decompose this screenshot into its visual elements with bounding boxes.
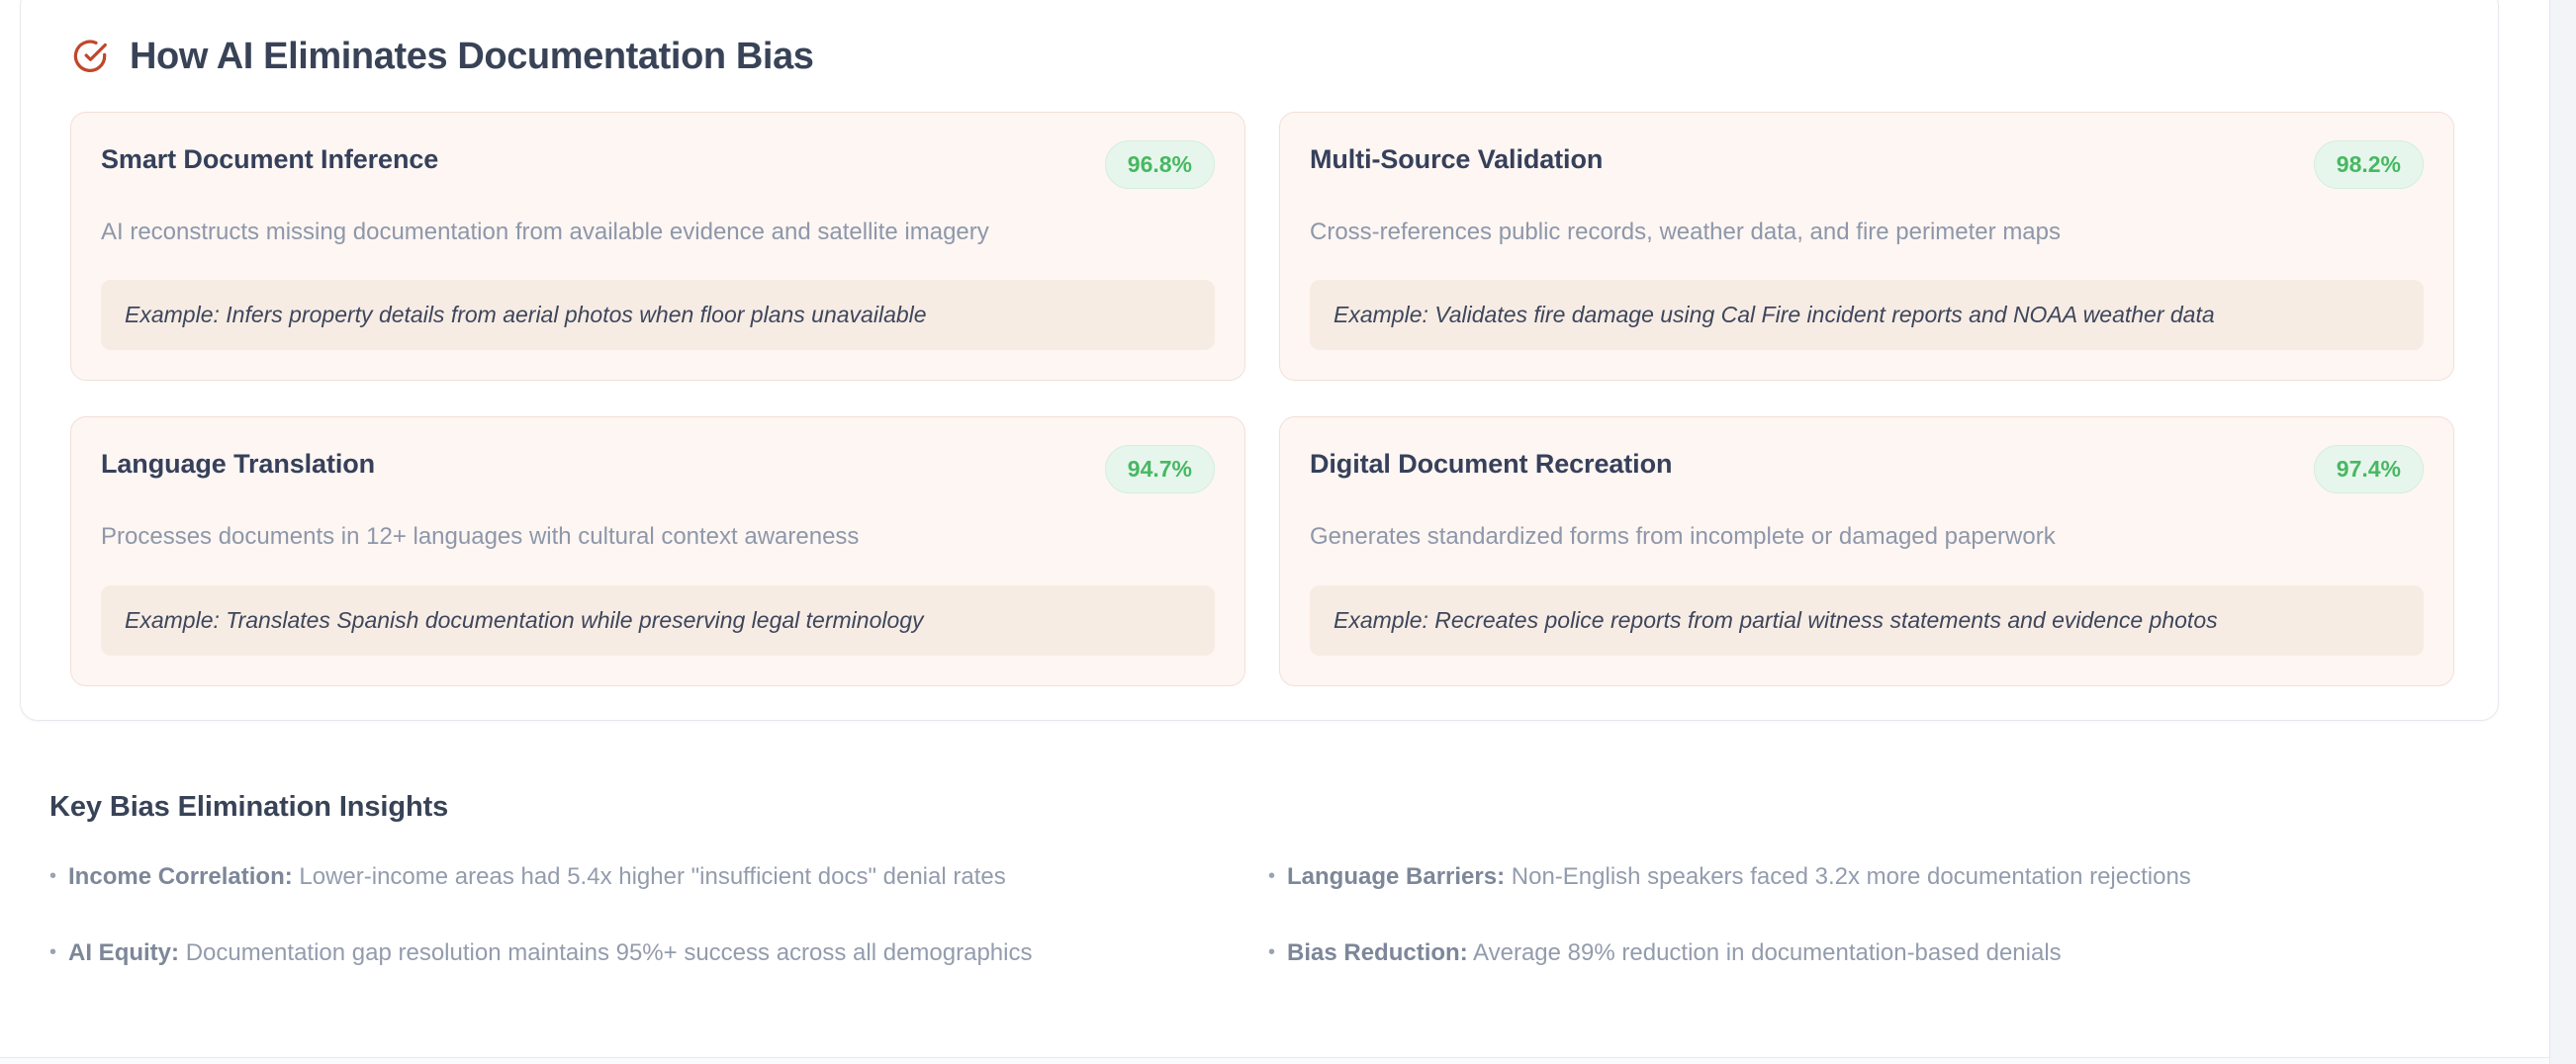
feature-card-smart-document-inference[interactable]: Smart Document Inference 96.8% AI recons… <box>70 112 1245 381</box>
documentation-bias-panel: How AI Eliminates Documentation Bias Sma… <box>20 0 2499 721</box>
insights-grid: • Income Correlation: Lower-income areas… <box>49 861 2483 968</box>
insight-label: Income Correlation: <box>68 863 293 890</box>
card-description: AI reconstructs missing documentation fr… <box>101 217 1215 248</box>
card-header: Digital Document Recreation 97.4% <box>1310 445 2424 493</box>
card-example: Example: Validates fire damage using Cal… <box>1310 280 2424 350</box>
bottom-strip <box>0 1058 2549 1064</box>
check-circle-icon <box>72 39 109 75</box>
card-description: Generates standardized forms from incomp… <box>1310 521 2424 553</box>
insight-text: Language Barriers: Non-English speakers … <box>1287 861 2191 892</box>
insight-item-income-correlation: • Income Correlation: Lower-income areas… <box>49 861 1268 892</box>
key-insights-section: Key Bias Elimination Insights • Income C… <box>49 791 2483 968</box>
insights-title: Key Bias Elimination Insights <box>49 791 2483 824</box>
insight-label: AI Equity: <box>68 939 179 966</box>
card-description: Cross-references public records, weather… <box>1310 217 2424 248</box>
accuracy-badge: 98.2% <box>2314 140 2424 189</box>
insight-body: Lower-income areas had 5.4x higher "insu… <box>299 863 1005 890</box>
page-root: How AI Eliminates Documentation Bias Sma… <box>0 0 2576 1064</box>
accuracy-badge: 94.7% <box>1105 445 1215 493</box>
feature-card-language-translation[interactable]: Language Translation 94.7% Processes doc… <box>70 416 1245 685</box>
insight-text: AI Equity: Documentation gap resolution … <box>68 937 1032 968</box>
feature-card-multi-source-validation[interactable]: Multi-Source Validation 98.2% Cross-refe… <box>1279 112 2454 381</box>
card-header: Smart Document Inference 96.8% <box>101 140 1215 189</box>
card-title: Smart Document Inference <box>101 140 438 177</box>
insight-item-bias-reduction: • Bias Reduction: Average 89% reduction … <box>1268 937 2483 968</box>
bullet-icon: • <box>49 942 56 962</box>
accuracy-badge: 96.8% <box>1105 140 1215 189</box>
insight-text: Income Correlation: Lower-income areas h… <box>68 861 1006 892</box>
insight-item-language-barriers: • Language Barriers: Non-English speaker… <box>1268 861 2483 892</box>
insight-item-ai-equity: • AI Equity: Documentation gap resolutio… <box>49 937 1268 968</box>
bullet-icon: • <box>1268 866 1275 886</box>
panel-header: How AI Eliminates Documentation Bias <box>21 0 2498 78</box>
feature-card-grid: Smart Document Inference 96.8% AI recons… <box>21 78 2498 686</box>
card-example: Example: Translates Spanish documentatio… <box>101 585 1215 656</box>
card-header: Multi-Source Validation 98.2% <box>1310 140 2424 189</box>
feature-card-digital-document-recreation[interactable]: Digital Document Recreation 97.4% Genera… <box>1279 416 2454 685</box>
card-title: Multi-Source Validation <box>1310 140 1603 177</box>
card-example: Example: Infers property details from ae… <box>101 280 1215 350</box>
insight-label: Bias Reduction: <box>1287 939 1468 966</box>
page-title: How AI Eliminates Documentation Bias <box>130 37 814 78</box>
insight-body: Non-English speakers faced 3.2x more doc… <box>1512 863 2191 890</box>
insight-body: Average 89% reduction in documentation-b… <box>1473 939 2062 966</box>
insight-label: Language Barriers: <box>1287 863 1505 890</box>
card-title: Digital Document Recreation <box>1310 445 1672 482</box>
card-title: Language Translation <box>101 445 375 482</box>
page-right-gutter <box>2549 0 2576 1064</box>
bullet-icon: • <box>1268 942 1275 962</box>
card-description: Processes documents in 12+ languages wit… <box>101 521 1215 553</box>
card-example: Example: Recreates police reports from p… <box>1310 585 2424 656</box>
accuracy-badge: 97.4% <box>2314 445 2424 493</box>
card-header: Language Translation 94.7% <box>101 445 1215 493</box>
bullet-icon: • <box>49 866 56 886</box>
insight-text: Bias Reduction: Average 89% reduction in… <box>1287 937 2062 968</box>
insight-body: Documentation gap resolution maintains 9… <box>186 939 1033 966</box>
content-column: How AI Eliminates Documentation Bias Sma… <box>0 0 2549 1064</box>
